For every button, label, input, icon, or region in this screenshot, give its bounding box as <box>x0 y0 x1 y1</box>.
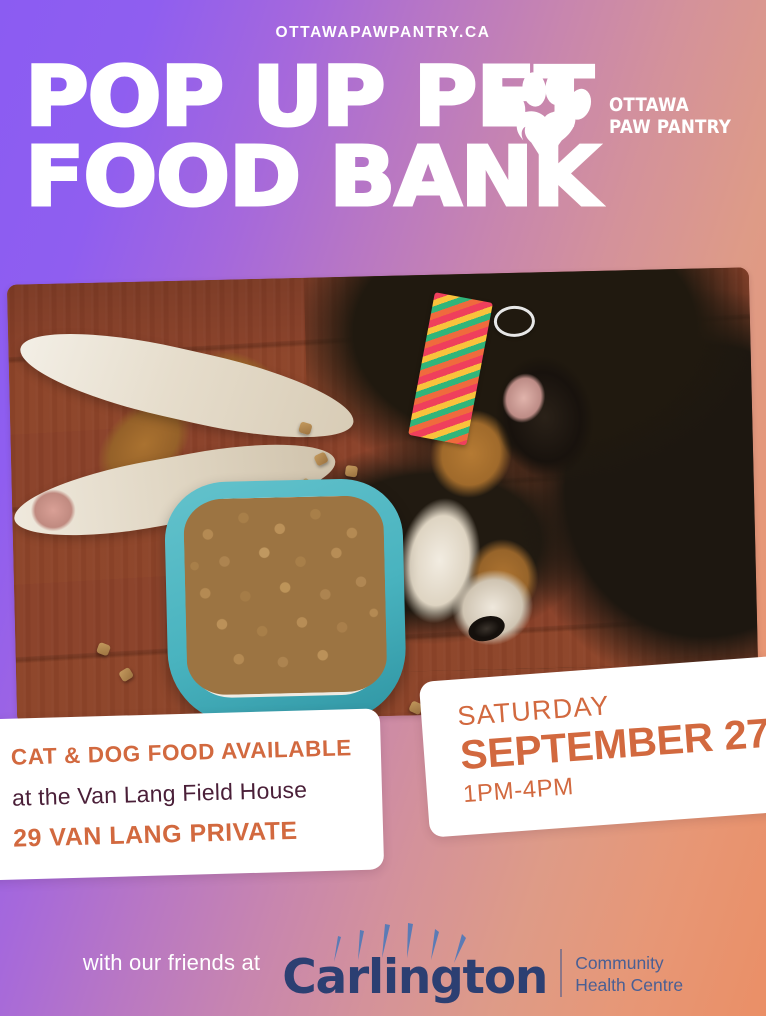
paw-print-icon <box>491 62 599 170</box>
footer-partner-section: with our friends at Carlington Co <box>0 924 766 1001</box>
event-details-card: CAT & DOG FOOD AVAILABLE at the Van Lang… <box>0 708 384 880</box>
partner-tagline-line-1: Community <box>575 953 683 975</box>
logo-line-1: OTTAWA <box>609 94 731 116</box>
logo-line-2: PAW PANTRY <box>609 116 731 138</box>
venue-address-text: 29 VAN LANG PRIVATE <box>13 815 364 854</box>
logo-wordmark: OTTAWA PAW PANTRY <box>609 94 731 139</box>
bottom-white-strip <box>0 1016 766 1023</box>
partner-intro-text: with our friends at <box>83 950 260 976</box>
carlington-logo: Carlington Community Health Centre <box>282 924 683 1001</box>
event-date-card: SATURDAY SEPTEMBER 27 1PM-4PM <box>419 654 766 837</box>
sunburst-icon <box>328 920 478 964</box>
hero-photo <box>7 267 759 724</box>
venue-name-text: at the Van Lang Field House <box>12 775 363 812</box>
logo-divider <box>560 949 562 997</box>
kibble-in-bowl <box>183 495 387 696</box>
website-url: OTTAWAPAWPANTRY.CA <box>0 24 766 42</box>
poster-canvas: OTTAWAPAWPANTRY.CA POP UP PET FOOD BANK … <box>0 0 766 1023</box>
pet-food-bowl <box>164 478 407 725</box>
ottawa-paw-pantry-logo: OTTAWA PAW PANTRY <box>491 62 748 170</box>
partner-tagline: Community Health Centre <box>575 953 683 997</box>
dog-ear <box>474 334 615 501</box>
kibble-piece <box>345 465 358 477</box>
partner-tagline-line-2: Health Centre <box>575 975 683 997</box>
food-availability-text: CAT & DOG FOOD AVAILABLE <box>11 735 362 771</box>
photo-background-wood-floor <box>7 267 759 724</box>
